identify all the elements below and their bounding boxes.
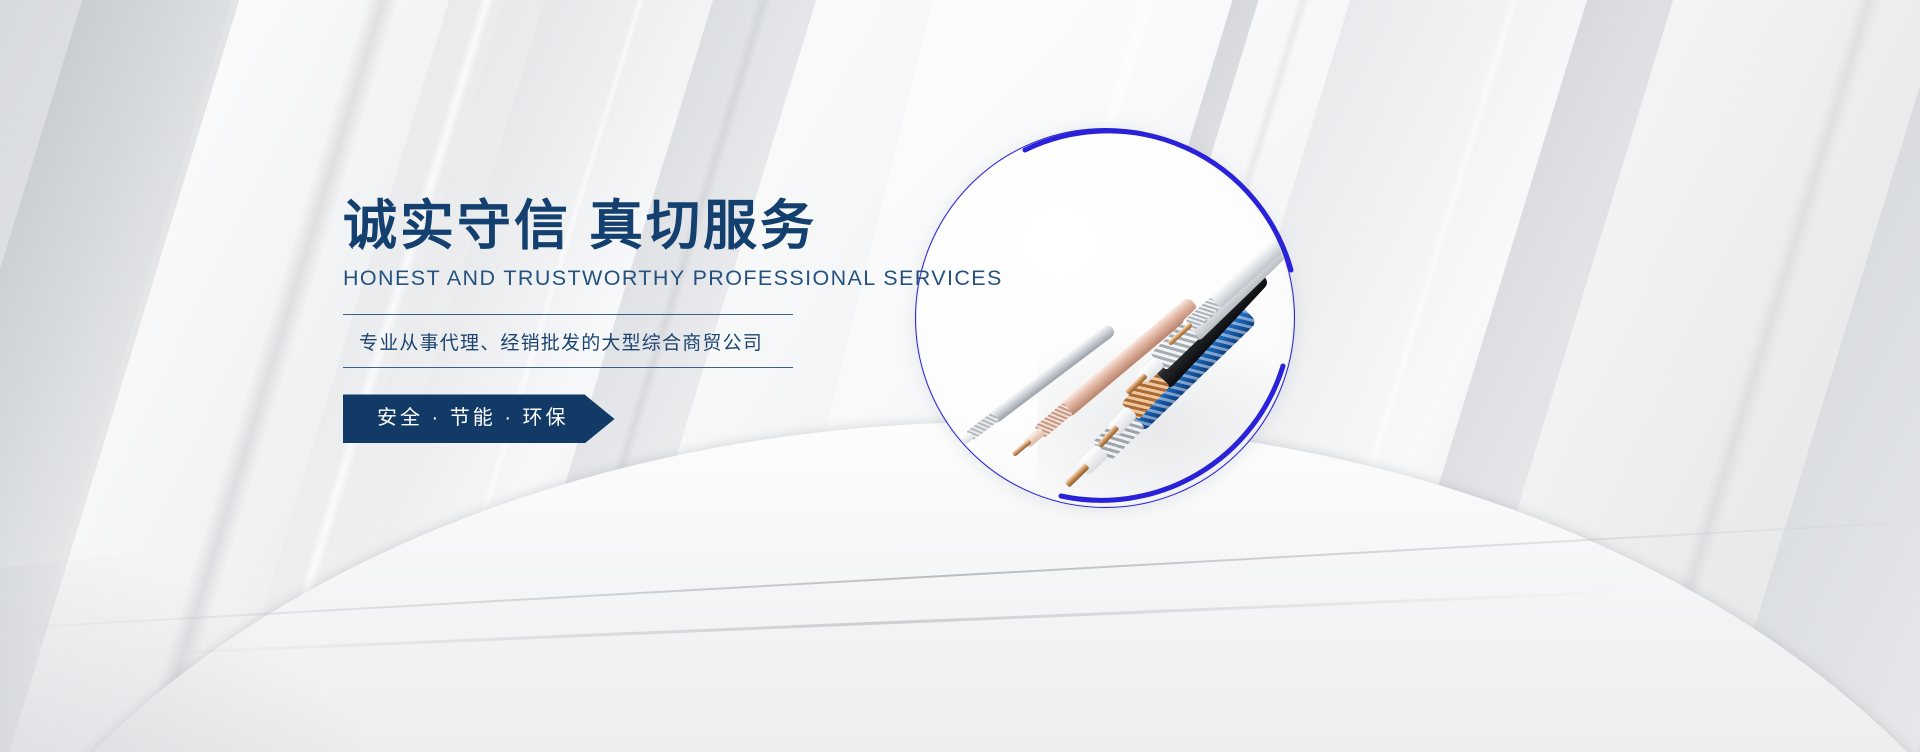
banner-tagline-chinese: 专业从事代理、经销批发的大型综合商贸公司 bbox=[343, 315, 793, 367]
hero-banner: 诚实守信 真切服务 HONEST AND TRUSTWORTHY PROFESS… bbox=[0, 0, 1920, 752]
bg-corner-shadow bbox=[0, 530, 360, 752]
tagline-divider-bottom bbox=[343, 367, 793, 368]
banner-tagline-group: 专业从事代理、经销批发的大型综合商贸公司 bbox=[343, 314, 793, 368]
banner-badge-row: 安全 · 节能 · 环保 bbox=[343, 368, 903, 443]
tagline-divider-top bbox=[343, 314, 793, 315]
banner-copy-block: 诚实守信 真切服务 HONEST AND TRUSTWORTHY PROFESS… bbox=[343, 196, 903, 443]
product-photo-circle bbox=[917, 130, 1293, 506]
banner-subtitle-english: HONEST AND TRUSTWORTHY PROFESSIONAL SERV… bbox=[343, 266, 903, 291]
banner-headline: 诚实守信 真切服务 bbox=[343, 196, 903, 256]
feature-badge[interactable]: 安全 · 节能 · 环保 bbox=[343, 394, 615, 443]
product-circle-zone bbox=[905, 118, 1305, 518]
